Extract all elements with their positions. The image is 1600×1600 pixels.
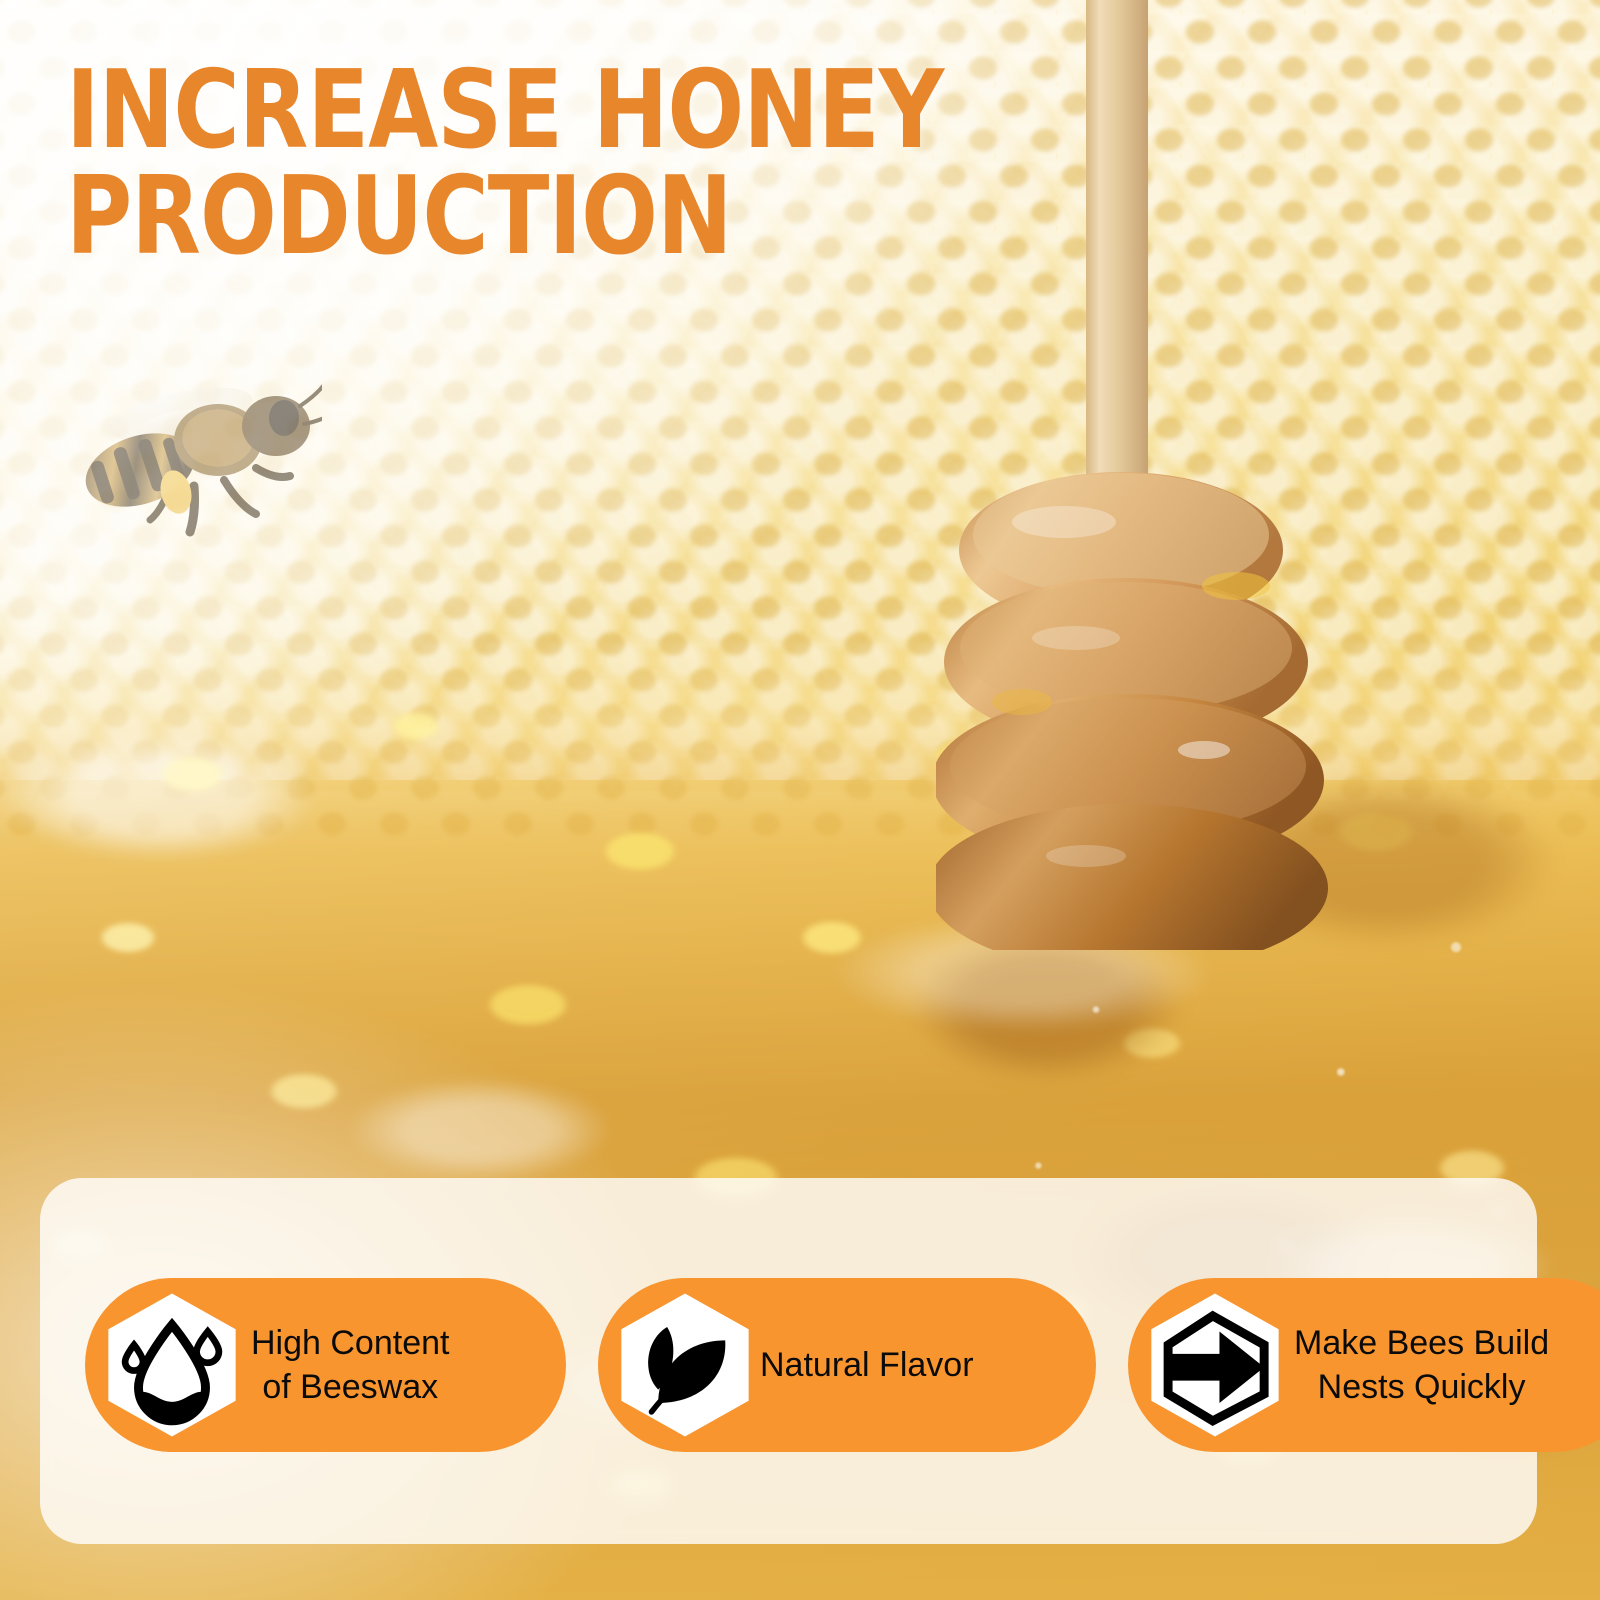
feature-label: High Content of Beeswax [245,1321,463,1409]
page-title: INCREASE HONEY PRODUCTION [66,58,1089,271]
feature-label: Natural Flavor [758,1343,988,1387]
promo-banner: INCREASE HONEY PRODUCTION High C [0,0,1600,1600]
feature-pill-beeswax[interactable]: High Content of Beeswax [85,1278,566,1452]
honey-drop-icon [99,1285,245,1445]
leaf-icon [612,1285,758,1445]
feature-pill-build-nests[interactable]: Make Bees Build Nests Quickly [1128,1278,1600,1452]
feature-pill-list: High Content of Beeswax Natural Flavor [85,1278,1600,1452]
feature-pill-natural-flavor[interactable]: Natural Flavor [598,1278,1096,1452]
feature-panel: High Content of Beeswax Natural Flavor [40,1178,1537,1544]
honeybee-illustration [72,362,322,557]
feature-label: Make Bees Build Nests Quickly [1288,1321,1563,1409]
arrow-right-icon [1142,1285,1288,1445]
